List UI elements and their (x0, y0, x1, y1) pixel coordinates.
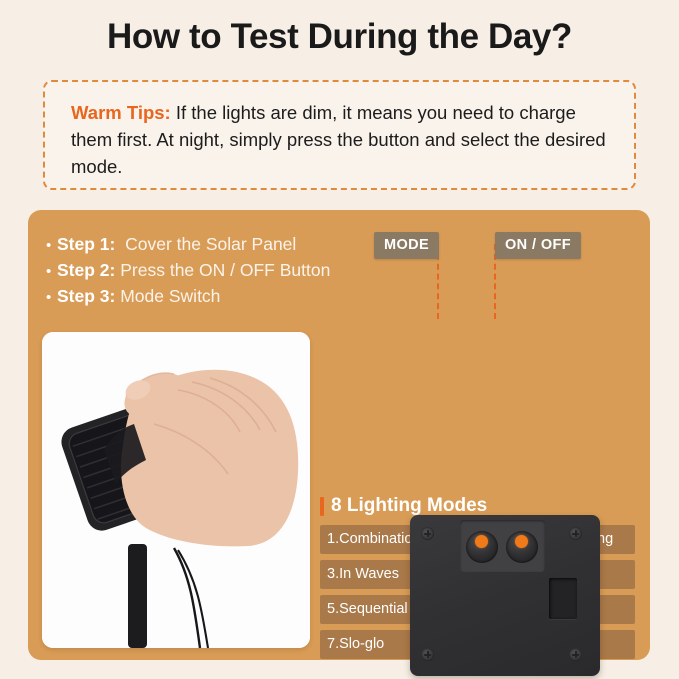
on-off-button[interactable] (506, 531, 538, 563)
step-item: •Step 1: Cover the Solar Panel (46, 232, 376, 258)
mode-button[interactable] (466, 531, 498, 563)
controller-device (410, 515, 600, 676)
screw-icon (421, 648, 434, 661)
step-description: Mode Switch (120, 286, 220, 306)
page-title: How to Test During the Day? (0, 17, 679, 57)
steps-list: •Step 1: Cover the Solar Panel •Step 2: … (46, 232, 376, 310)
step-label: Step 1: (57, 234, 115, 254)
photo-illustration (42, 332, 310, 648)
step-description: Press the ON / OFF Button (120, 260, 330, 280)
step-label: Step 3: (57, 286, 115, 306)
step-description: Cover the Solar Panel (125, 234, 296, 254)
warm-tips-label: Warm Tips: (71, 102, 171, 123)
step-label: Step 2: (57, 260, 115, 280)
step-item: •Step 2: Press the ON / OFF Button (46, 258, 376, 284)
button-recess (460, 520, 545, 572)
mode-callout-chip: MODE (374, 232, 439, 259)
modes-accent-bar (320, 497, 324, 516)
step-item: •Step 3: Mode Switch (46, 284, 376, 310)
warm-tips-text: Warm Tips: If the lights are dim, it mea… (71, 99, 616, 180)
hand-covering-solar-panel-photo (42, 332, 310, 648)
modes-heading: 8 Lighting Modes (331, 495, 487, 517)
on-off-callout-chip: ON / OFF (495, 232, 581, 259)
bullet-icon: • (46, 285, 57, 310)
device-port-slot (549, 578, 577, 619)
screw-icon (569, 648, 582, 661)
warm-tips-box: Warm Tips: If the lights are dim, it mea… (43, 80, 636, 190)
instruction-panel: •Step 1: Cover the Solar Panel •Step 2: … (28, 210, 650, 660)
bullet-icon: • (46, 233, 57, 258)
screw-icon (569, 527, 582, 540)
screw-icon (421, 527, 434, 540)
bullet-icon: • (46, 259, 57, 284)
